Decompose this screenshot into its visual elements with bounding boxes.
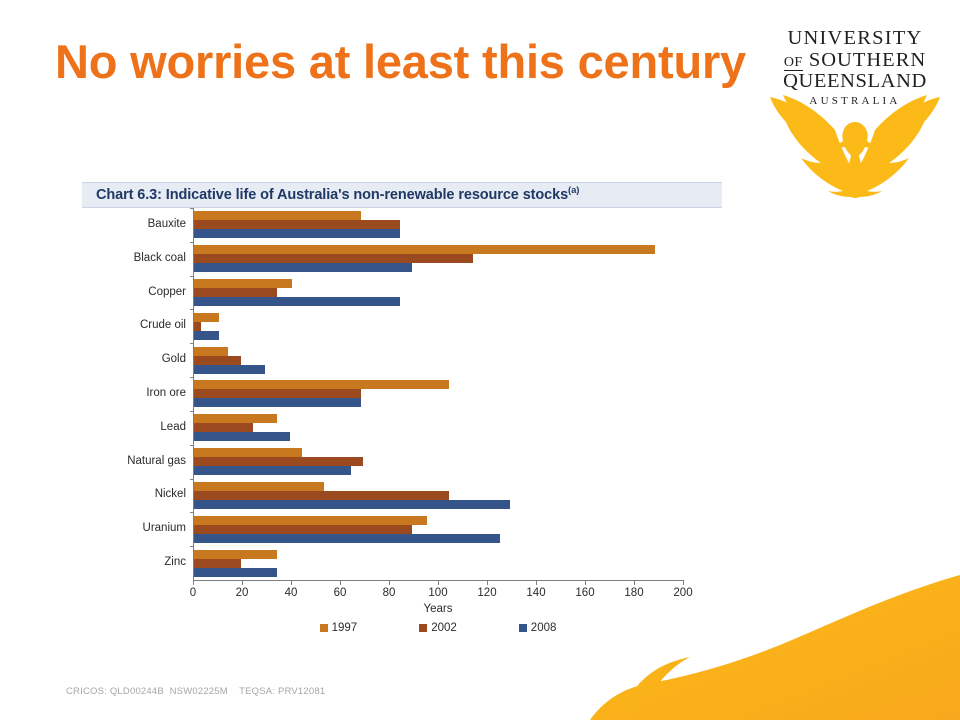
bar	[194, 389, 361, 398]
bar	[194, 211, 361, 220]
bar	[194, 322, 201, 331]
legend-item-2002[interactable]: 2002	[419, 622, 457, 634]
bar-group	[194, 479, 684, 513]
bar	[194, 279, 292, 288]
category-label: Lead	[86, 421, 186, 433]
bar	[194, 500, 510, 509]
bar	[194, 525, 412, 534]
category-label: Bauxite	[86, 218, 186, 230]
bar	[194, 331, 219, 340]
bar-group	[194, 377, 684, 411]
bar	[194, 568, 277, 577]
category-label: Crude oil	[86, 319, 186, 331]
bar	[194, 297, 400, 306]
category-axis-labels: BauxiteBlack coalCopperCrude oilGoldIron…	[82, 208, 186, 580]
bar	[194, 457, 363, 466]
bar	[194, 414, 277, 423]
category-label: Uranium	[86, 522, 186, 534]
bar-group	[194, 512, 684, 546]
logo-line-university: UNIVERSITY	[760, 28, 950, 50]
bar	[194, 432, 290, 441]
bar	[194, 559, 241, 568]
x-axis-tick-label: 20	[222, 587, 262, 599]
bar	[194, 448, 302, 457]
logo-line-of-southern: OF SOUTHERN	[760, 50, 950, 72]
bar-group	[194, 309, 684, 343]
chart-title: Chart 6.3: Indicative life of Australia'…	[96, 185, 579, 203]
legend-swatch-icon	[419, 624, 427, 632]
chart-title-footnote-marker: (a)	[568, 185, 579, 196]
bar	[194, 313, 219, 322]
legend-item-2008[interactable]: 2008	[519, 622, 557, 634]
bar-group	[194, 343, 684, 377]
x-axis-tick-label: 100	[418, 587, 458, 599]
x-axis-tick-label: 60	[320, 587, 360, 599]
bar	[194, 398, 361, 407]
bar	[194, 466, 351, 475]
bar	[194, 534, 500, 543]
x-axis-tick	[536, 580, 537, 585]
x-axis-tick-label: 40	[271, 587, 311, 599]
bar-group	[194, 445, 684, 479]
category-label: Black coal	[86, 252, 186, 264]
usq-wordmark: UNIVERSITY OF SOUTHERN QUEENSLAND AUSTRA…	[760, 28, 950, 110]
bar	[194, 254, 473, 263]
x-axis-tick-label: 140	[516, 587, 556, 599]
category-label: Nickel	[86, 488, 186, 500]
x-axis-tick	[242, 580, 243, 585]
bar	[194, 550, 277, 559]
bar	[194, 516, 427, 525]
legend-label: 1997	[332, 622, 358, 634]
decorative-swoosh	[590, 565, 960, 720]
logo-word-of: OF	[784, 55, 803, 71]
category-label: Copper	[86, 286, 186, 298]
bar	[194, 229, 400, 238]
legend-label: 2002	[431, 622, 457, 634]
x-axis-tick-label: 120	[467, 587, 507, 599]
bar-group	[194, 208, 684, 242]
x-axis-tick-label: 80	[369, 587, 409, 599]
usq-logo: UNIVERSITY OF SOUTHERN QUEENSLAND AUSTRA…	[760, 26, 950, 198]
legend-item-1997[interactable]: 1997	[320, 622, 358, 634]
legend-swatch-icon	[519, 624, 527, 632]
bar	[194, 356, 241, 365]
chart-title-main: Chart 6.3: Indicative life of Australia'…	[96, 187, 568, 203]
legend-swatch-icon	[320, 624, 328, 632]
bar	[194, 482, 324, 491]
x-axis-tick	[389, 580, 390, 585]
x-axis-tick	[340, 580, 341, 585]
category-label: Iron ore	[86, 387, 186, 399]
bar	[194, 263, 412, 272]
bar	[194, 423, 253, 432]
bar	[194, 380, 449, 389]
legend-label: 2008	[531, 622, 557, 634]
x-axis-tick-label: 0	[173, 587, 213, 599]
bar	[194, 288, 277, 297]
bar	[194, 365, 265, 374]
bar	[194, 220, 400, 229]
bar-group	[194, 411, 684, 445]
page-title: No worries at least this century	[55, 36, 765, 89]
bar-group	[194, 242, 684, 276]
bar	[194, 347, 228, 356]
category-label: Zinc	[86, 556, 186, 568]
logo-line-queensland: QUEENSLAND	[760, 71, 950, 93]
footer-cricos-text: CRICOS: QLD00244B NSW02225M TEQSA: PRV12…	[66, 686, 325, 697]
bar	[194, 491, 449, 500]
logo-line-australia: AUSTRALIA	[760, 93, 950, 111]
logo-word-southern: SOUTHERN	[809, 49, 926, 71]
plot-area	[193, 208, 684, 580]
x-axis-tick	[487, 580, 488, 585]
slide-canvas: No worries at least this century UNIVERS…	[0, 0, 960, 720]
bar	[194, 245, 655, 254]
x-axis-tick	[438, 580, 439, 585]
category-label: Gold	[86, 353, 186, 365]
x-axis-tick	[585, 580, 586, 585]
x-axis-tick	[193, 580, 194, 585]
category-label: Natural gas	[86, 455, 186, 467]
x-axis-tick	[291, 580, 292, 585]
bar-group	[194, 276, 684, 310]
